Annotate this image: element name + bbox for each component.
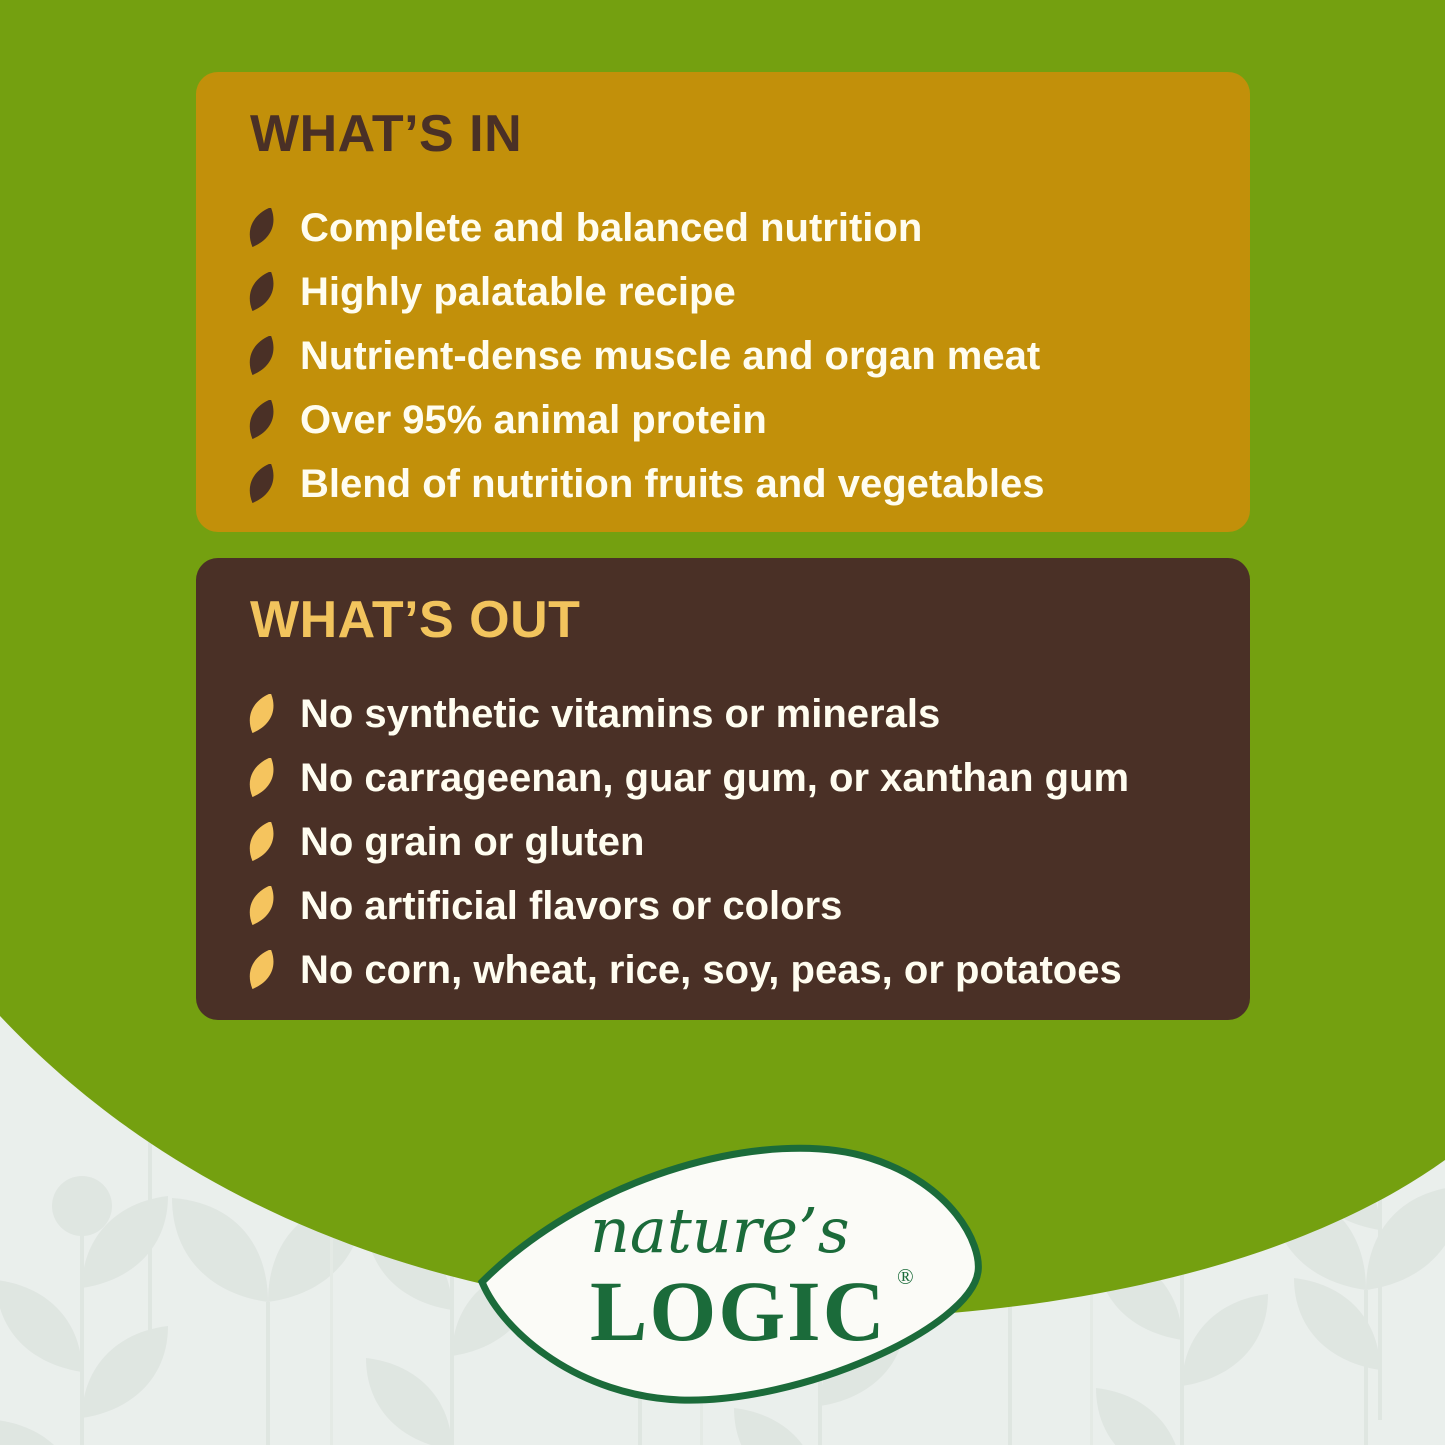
- leaf-bullet-icon: [242, 950, 282, 990]
- list-item-label: No carrageenan, guar gum, or xanthan gum: [300, 757, 1129, 799]
- leaf-bullet-icon: [242, 208, 282, 248]
- leaf-bullet-icon: [242, 886, 282, 926]
- leaf-bullet-icon: [242, 272, 282, 312]
- list-item-label: Over 95% animal protein: [300, 399, 767, 441]
- leaf-lens-logo-icon: nature’s LOGIC ®: [470, 1132, 990, 1412]
- list-item-label: Blend of nutrition fruits and vegetables: [300, 463, 1045, 505]
- list-item: No artificial flavors or colors: [242, 874, 1250, 938]
- whats-in-title: WHAT’S IN: [250, 108, 1250, 160]
- list-item: Blend of nutrition fruits and vegetables: [242, 452, 1250, 516]
- leaf-bullet-icon: [242, 822, 282, 862]
- leaf-bullet-icon: [242, 336, 282, 376]
- whats-in-list: Complete and balanced nutrition Highly p…: [242, 196, 1250, 516]
- list-item: No corn, wheat, rice, soy, peas, or pota…: [242, 938, 1250, 1002]
- whats-in-panel: WHAT’S IN Complete and balanced nutritio…: [196, 72, 1250, 532]
- whats-out-title: WHAT’S OUT: [250, 594, 1250, 646]
- logo-script-text: nature’s: [590, 1194, 850, 1267]
- list-item: Highly palatable recipe: [242, 260, 1250, 324]
- list-item: Over 95% animal protein: [242, 388, 1250, 452]
- list-item: Nutrient-dense muscle and organ meat: [242, 324, 1250, 388]
- logo-wordmark-text: LOGIC: [590, 1263, 887, 1359]
- infographic-canvas: WHAT’S IN Complete and balanced nutritio…: [0, 0, 1445, 1445]
- list-item-label: Complete and balanced nutrition: [300, 207, 922, 249]
- logo-registered-mark: ®: [897, 1264, 914, 1289]
- whats-out-list: No synthetic vitamins or minerals No car…: [242, 682, 1250, 1002]
- leaf-bullet-icon: [242, 694, 282, 734]
- brand-logo: nature’s LOGIC ®: [470, 1132, 990, 1412]
- leaf-bullet-icon: [242, 758, 282, 798]
- leaf-bullet-icon: [242, 400, 282, 440]
- whats-out-panel: WHAT’S OUT No synthetic vitamins or mine…: [196, 558, 1250, 1020]
- list-item-label: No corn, wheat, rice, soy, peas, or pota…: [300, 949, 1122, 991]
- list-item-label: Nutrient-dense muscle and organ meat: [300, 335, 1040, 377]
- list-item-label: No artificial flavors or colors: [300, 885, 842, 927]
- list-item: No carrageenan, guar gum, or xanthan gum: [242, 746, 1250, 810]
- leaf-bullet-icon: [242, 464, 282, 504]
- list-item-label: Highly palatable recipe: [300, 271, 736, 313]
- list-item: Complete and balanced nutrition: [242, 196, 1250, 260]
- list-item-label: No synthetic vitamins or minerals: [300, 693, 940, 735]
- list-item: No grain or gluten: [242, 810, 1250, 874]
- list-item-label: No grain or gluten: [300, 821, 644, 863]
- list-item: No synthetic vitamins or minerals: [242, 682, 1250, 746]
